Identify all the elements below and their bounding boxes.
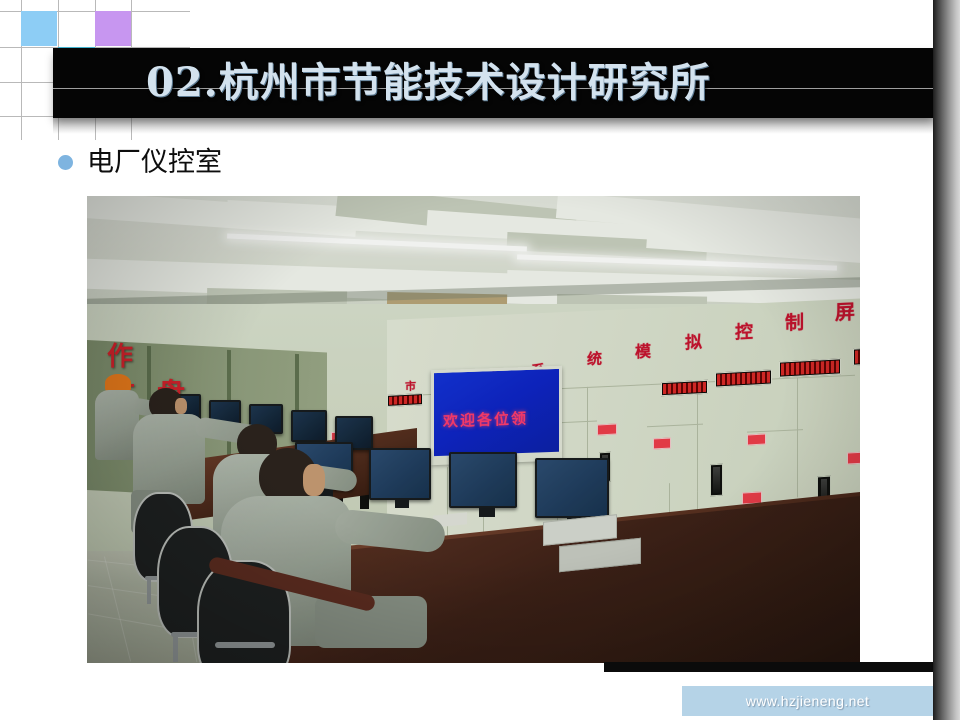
mimic-tag-2 [653, 438, 671, 450]
decor-square-purple [95, 11, 131, 46]
monitor-3 [449, 452, 517, 508]
mimic-tag-1 [597, 423, 617, 435]
monitor-rear-4 [291, 410, 327, 442]
mimic-tag-5 [847, 451, 860, 464]
mimic-char-8: 控 [735, 318, 753, 345]
right-edge-strip [933, 0, 960, 720]
led-strip-3 [779, 358, 841, 377]
led-strip-4 [853, 345, 860, 365]
mimic-char-9: 制 [785, 308, 804, 336]
footer-bar: www.hzjieneng.net [682, 686, 933, 716]
monitor-2 [369, 448, 431, 500]
led-strip-1 [661, 380, 708, 396]
led-strip-2 [715, 370, 772, 388]
bullet-item-label: 电厂仪控室 [87, 149, 222, 176]
decor-square-light-blue [21, 11, 57, 46]
footer-black-band [604, 662, 935, 672]
mimic-char-5: 统 [587, 348, 602, 370]
bullet-dot-icon [58, 155, 73, 170]
mimic-char-1: 市 [405, 378, 416, 395]
mimic-meter-2 [710, 464, 723, 497]
mimic-char-10: 屏 [835, 295, 855, 325]
page-title: 02.杭州市节能技术设计研究所 [146, 63, 711, 103]
title-bar-shadow [53, 118, 935, 134]
blue-led-display: 欢迎各位领 [431, 366, 562, 465]
bullet-item: 电厂仪控室 [58, 149, 222, 176]
mimic-tag-3 [747, 434, 766, 446]
slide-title-bar: 02.杭州市节能技术设计研究所 [53, 48, 935, 118]
control-room-photo: 作 监 盘 市 热 电 系 统 模 拟 [87, 196, 860, 663]
mimic-char-7: 拟 [685, 328, 702, 354]
cabinet-sign-char-1: 作 [107, 336, 133, 373]
led-display-text: 欢迎各位领 [443, 407, 528, 431]
monitor-4 [535, 458, 609, 518]
mimic-char-6: 模 [635, 338, 651, 363]
footer-url[interactable]: www.hzjieneng.net [682, 693, 933, 709]
slide-canvas: 02.杭州市节能技术设计研究所 电厂仪控室 [0, 0, 960, 720]
led-strip-5 [387, 393, 423, 407]
